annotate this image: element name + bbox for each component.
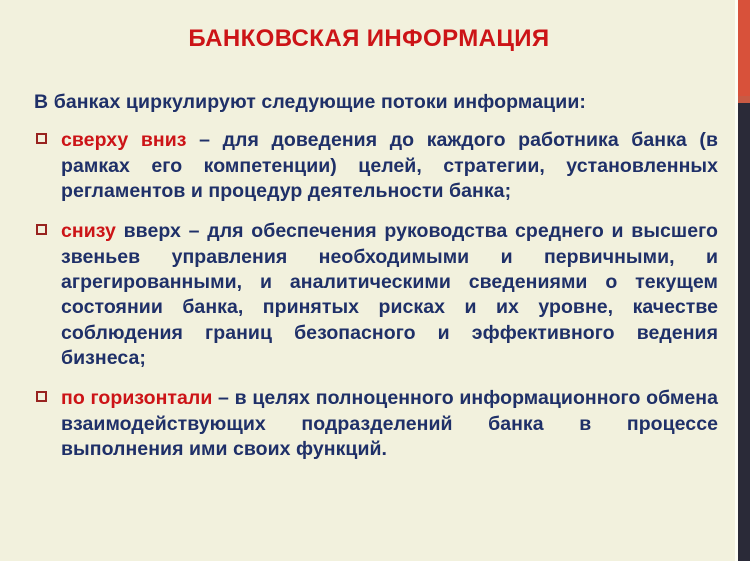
- list-item-text: снизу вверх – для обеспечения руководств…: [61, 219, 718, 371]
- slide-title: БАНКОВСКАЯ ИНФОРМАЦИЯ: [0, 26, 738, 52]
- list-item-text: сверху вниз – для доведения до каждого р…: [61, 128, 718, 204]
- hollow-square-bullet-icon: [36, 133, 47, 144]
- right-edge-orange-strip: [738, 0, 750, 103]
- list-item: снизу вверх – для обеспечения руководств…: [34, 219, 718, 371]
- list-item-keyword: снизу: [61, 220, 116, 242]
- list-item-keyword: по горизонтали: [61, 387, 212, 409]
- list-item-text: по горизонтали – в целях полноценного ин…: [61, 386, 718, 462]
- right-edge-navy-strip: [738, 103, 750, 561]
- intro-paragraph: В банках циркулируют следующие потоки ин…: [34, 90, 718, 114]
- list-item-body: вверх – для обеспечения руководства сред…: [61, 220, 718, 369]
- slide-canvas: БАНКОВСКАЯ ИНФОРМАЦИЯ В банках циркулиру…: [0, 0, 750, 561]
- hollow-square-bullet-icon: [36, 391, 47, 402]
- hollow-square-bullet-icon: [36, 224, 47, 235]
- list-item: по горизонтали – в целях полноценного ин…: [34, 386, 718, 462]
- slide-body: В банках циркулируют следующие потоки ин…: [34, 90, 718, 463]
- right-edge-orange-strip-shadow: [738, 96, 750, 103]
- list-item: сверху вниз – для доведения до каждого р…: [34, 128, 718, 204]
- list-item-keyword: сверху вниз: [61, 129, 187, 151]
